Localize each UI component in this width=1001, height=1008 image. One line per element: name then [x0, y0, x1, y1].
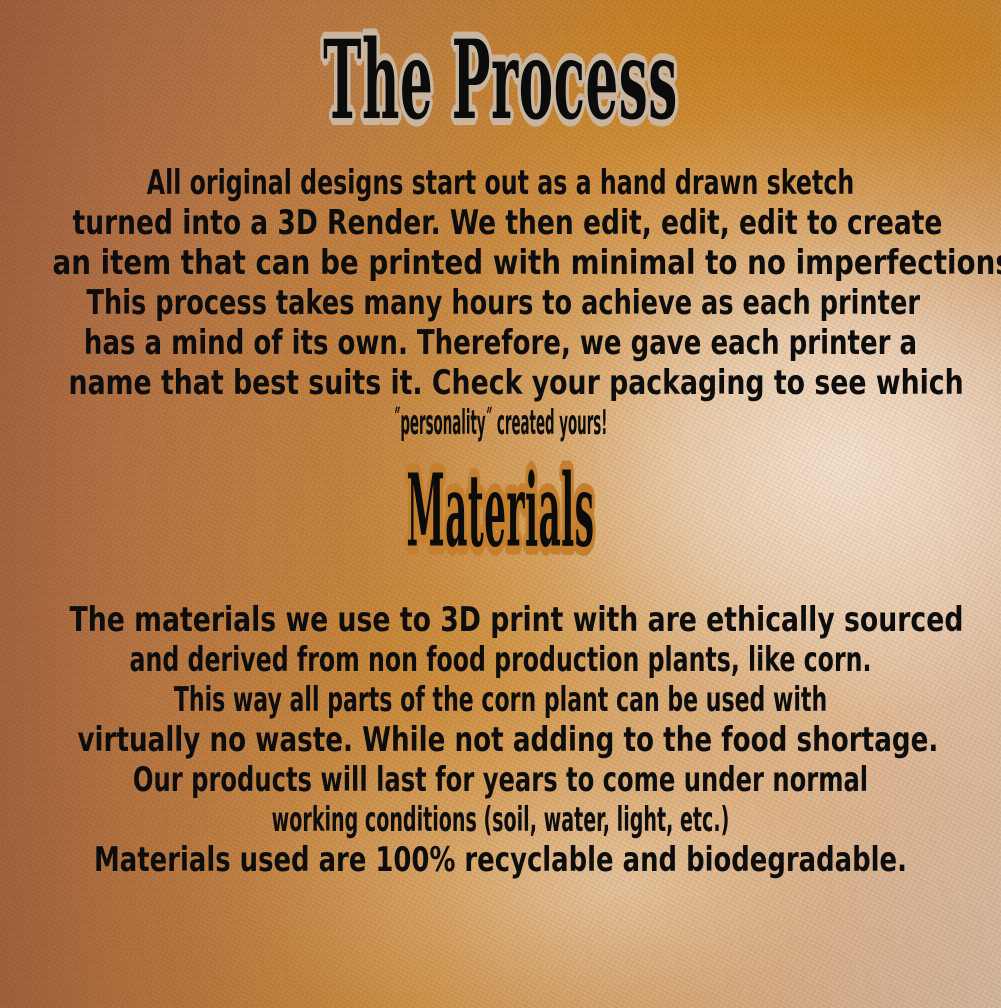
poster-content: The Process All original designs start o…: [0, 0, 1001, 1008]
heading-materials: Materials: [305, 460, 697, 560]
process-paragraph: All original designs start out as a hand…: [0, 163, 1001, 443]
materials-line: and derived from non food production pla…: [119, 638, 883, 682]
materials-line: virtually no waste. While not adding to …: [77, 718, 923, 762]
materials-line: Materials used are 100% recyclable and b…: [82, 838, 918, 882]
process-line: has a mind of its own. Therefore, we gav…: [80, 321, 920, 365]
poster-canvas: The Process All original designs start o…: [0, 0, 1001, 1008]
materials-line: working conditions (soil, water, light, …: [192, 798, 808, 842]
heading-the-process: The Process: [221, 26, 781, 135]
process-line: an item that can be printed with minimal…: [53, 241, 949, 285]
process-line: name that best suits it. Check your pack…: [69, 361, 933, 405]
process-line: ˝personality˝ created yours!: [284, 401, 716, 445]
process-line: turned into a 3D Render. We then edit, e…: [73, 201, 929, 245]
process-line: All original designs start out as a hand…: [118, 161, 884, 205]
process-line: This process takes many hours to achieve…: [86, 281, 914, 325]
materials-line: Our products will last for years to come…: [110, 758, 892, 802]
materials-line: This way all parts of the corn plant can…: [144, 678, 856, 722]
materials-line: The materials we use to 3D print with ar…: [70, 598, 932, 642]
materials-paragraph: The materials we use to 3D print with ar…: [0, 600, 1001, 880]
